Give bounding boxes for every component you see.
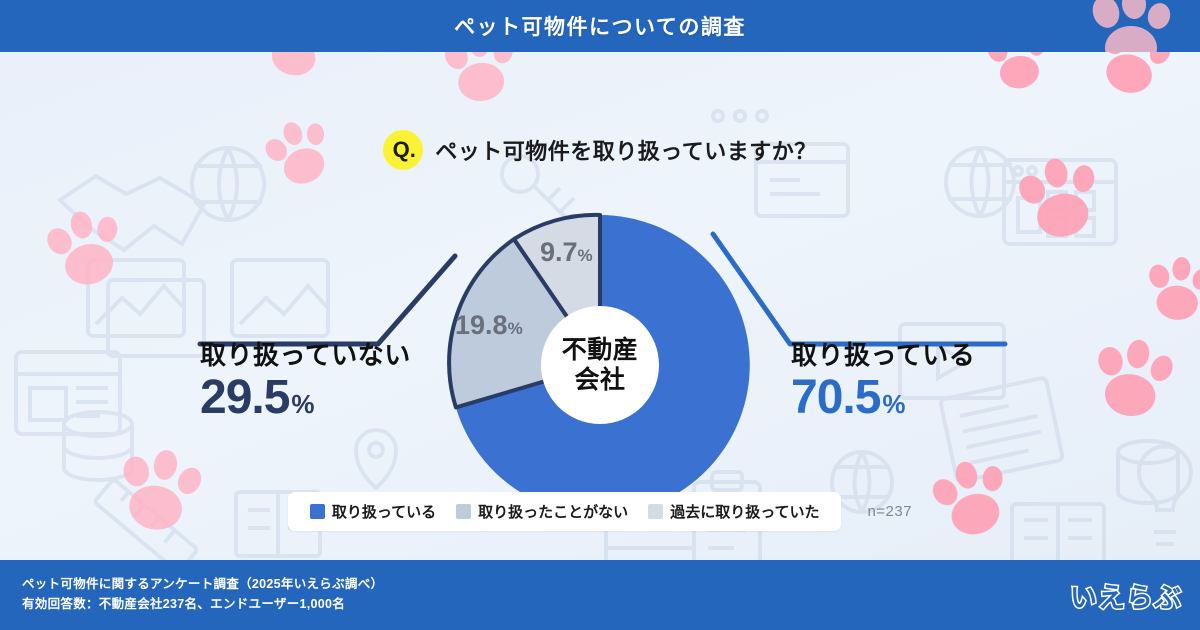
legend-box: 取り扱っている 取り扱ったことがない 過去に取り扱っていた [288, 492, 842, 531]
slice-value-past-handled: 9.7 [540, 237, 578, 267]
center-label-line2: 会社 [574, 365, 625, 395]
center-label-line1: 不動産 [562, 335, 639, 365]
footer-line-1: ペット可物件に関するアンケート調査（2025年いえらぶ調べ） [22, 574, 383, 594]
callout-right-value: 70.5 [791, 374, 880, 422]
footer-text-block: ペット可物件に関するアンケート調査（2025年いえらぶ調べ） 有効回答数：不動産… [22, 574, 383, 614]
percent-sign: % [578, 246, 593, 265]
question-row: Q. ペット可物件を取り扱っていますか？ [0, 130, 1200, 170]
brand-logo-text: いえらぶ [1070, 576, 1182, 615]
legend-swatch-past-handled [648, 504, 663, 519]
donut-chart: 不動産 会社 [430, 195, 770, 535]
slice-label-past-handled: 9.7% [540, 237, 593, 268]
slice-value-never-handled: 19.8 [455, 310, 508, 340]
callout-not-handled: 取り扱っていない 29.5 % [200, 335, 411, 422]
legend-item-never-handled: 取り扱ったことがない [456, 501, 628, 522]
callout-right-title: 取り扱っている [791, 335, 975, 372]
callout-handled: 取り扱っている 70.5 % [791, 335, 975, 422]
page-title: ペット可物件についての調査 [454, 11, 746, 41]
legend-label-never-handled: 取り扱ったことがない [478, 501, 628, 522]
infographic-canvas: ペット可物件についての調査 [0, 0, 1200, 630]
callout-left-value: 29.5 [200, 374, 289, 422]
sample-size-note: n=237 [867, 503, 912, 520]
legend-label-past-handled: 過去に取り扱っていた [670, 501, 819, 522]
slice-label-never-handled: 19.8% [455, 310, 523, 341]
footer-bar: ペット可物件に関するアンケート調査（2025年いえらぶ調べ） 有効回答数：不動産… [0, 560, 1200, 630]
legend-item-handled: 取り扱っている [310, 501, 436, 522]
callout-left-title: 取り扱っていない [200, 335, 411, 372]
callout-right-unit: % [882, 391, 905, 417]
legend-label-handled: 取り扱っている [332, 501, 436, 522]
callout-left-value-row: 29.5 % [200, 374, 411, 422]
content-stage: Q. ペット可物件を取り扱っていますか？ 不動産 会社 [0, 52, 1200, 560]
legend-swatch-handled [310, 504, 325, 519]
donut-center-label: 不動産 会社 [541, 306, 659, 424]
footer-line-2: 有効回答数：不動産会社237名、エンドユーザー1,000名 [22, 594, 383, 614]
paw-print-icon [1068, 0, 1178, 52]
legend-row: 取り扱っている 取り扱ったことがない 過去に取り扱っていた n=237 [0, 492, 1200, 531]
legend-swatch-never-handled [456, 504, 471, 519]
question-badge: Q. [383, 130, 423, 170]
question-text: ペット可物件を取り扱っていますか？ [435, 134, 816, 166]
percent-sign: % [508, 319, 523, 338]
callout-right-value-row: 70.5 % [791, 374, 975, 422]
legend-item-past-handled: 過去に取り扱っていた [648, 501, 819, 522]
question-badge-label: Q. [393, 137, 416, 163]
brand-logo: いえらぶ [1070, 578, 1182, 612]
callout-left-unit: % [291, 391, 314, 417]
header-bar: ペット可物件についての調査 [0, 0, 1200, 52]
